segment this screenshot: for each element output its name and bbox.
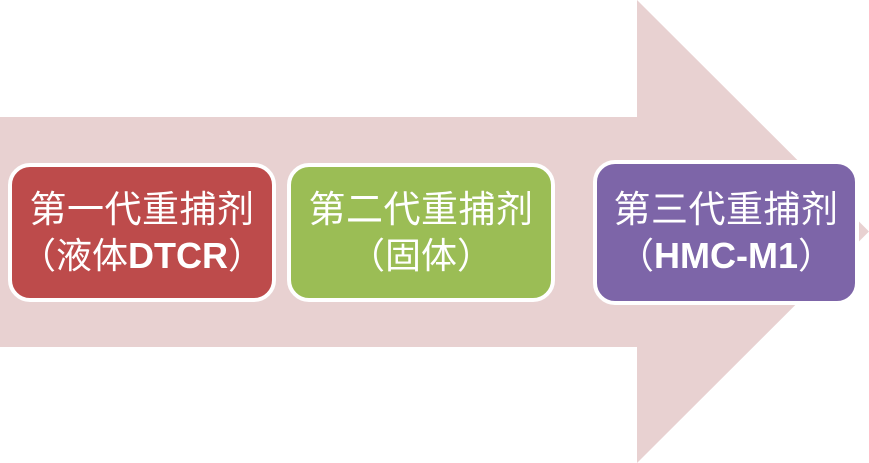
stage-label-sub: （HMC-M1） — [616, 236, 836, 276]
stage-box-first-generation[interactable]: 第一代重捕剂 （液体DTCR） — [8, 163, 276, 302]
stage-sub-latin: HMC-M1 — [654, 235, 798, 276]
stage-sub-suffix: ） — [228, 235, 264, 276]
stage-label-sub: （固体） — [347, 236, 495, 276]
diagram-canvas: 第一代重捕剂 （液体DTCR） 第二代重捕剂 （固体） 第三代重捕剂 （HMC-… — [0, 0, 869, 463]
stage-label-sub: （液体DTCR） — [18, 236, 266, 276]
stage-label-main: 第一代重捕剂 — [26, 189, 259, 230]
stage-box-third-generation[interactable]: 第三代重捕剂 （HMC-M1） — [593, 160, 859, 305]
stage-label-main: 第二代重捕剂 — [305, 189, 538, 230]
stage-sub-prefix: （固体 — [349, 235, 457, 276]
stage-label-main: 第三代重捕剂 — [610, 189, 843, 230]
stage-sub-suffix: ） — [457, 235, 493, 276]
stage-box-second-generation[interactable]: 第二代重捕剂 （固体） — [287, 163, 555, 302]
stage-sub-prefix: （液体 — [20, 235, 128, 276]
stage-sub-prefix: （ — [618, 235, 654, 276]
stage-sub-suffix: ） — [798, 235, 834, 276]
stage-sub-latin: DTCR — [128, 235, 228, 276]
